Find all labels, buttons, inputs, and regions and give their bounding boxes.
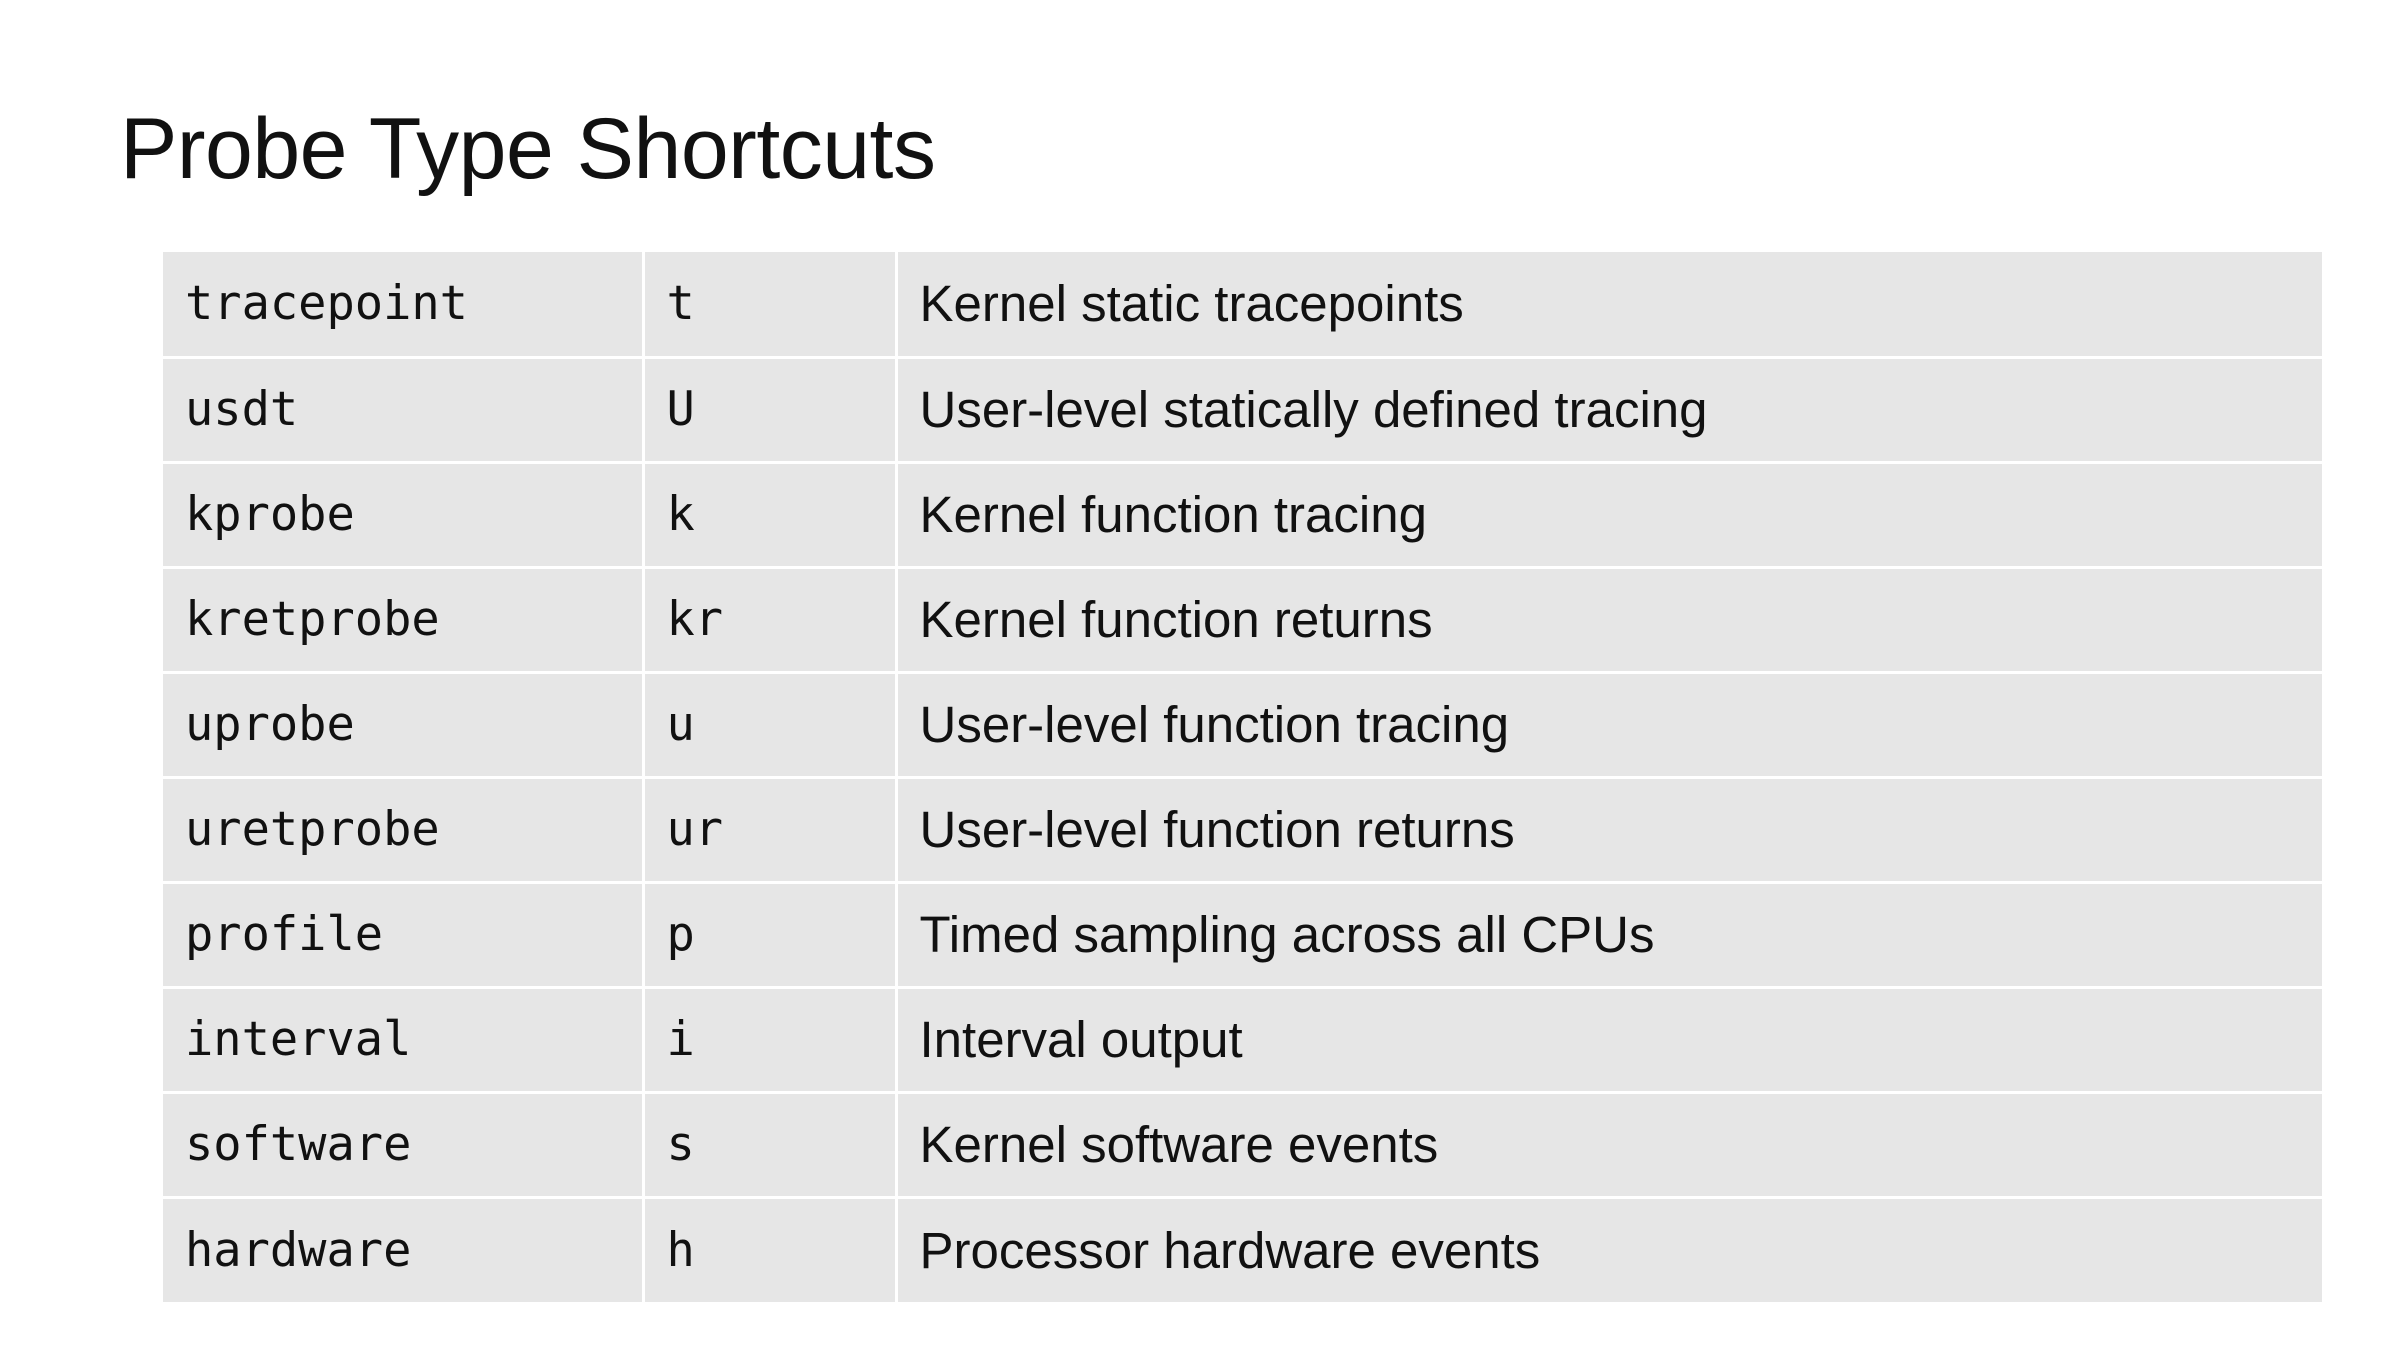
table-row: usdt U User-level statically defined tra… — [163, 357, 2322, 462]
cell-shortcut: ur — [643, 777, 896, 882]
cell-description: User-level function returns — [896, 777, 2322, 882]
table-row: uretprobe ur User-level function returns — [163, 777, 2322, 882]
cell-probe-type: usdt — [163, 357, 643, 462]
table-body: tracepoint t Kernel static tracepoints u… — [163, 252, 2322, 1302]
cell-probe-type: uretprobe — [163, 777, 643, 882]
cell-description: Timed sampling across all CPUs — [896, 882, 2322, 987]
table-row: uprobe u User-level function tracing — [163, 672, 2322, 777]
cell-shortcut: u — [643, 672, 896, 777]
table-row: hardware h Processor hardware events — [163, 1197, 2322, 1302]
table-row: software s Kernel software events — [163, 1092, 2322, 1197]
cell-description: Kernel software events — [896, 1092, 2322, 1197]
cell-shortcut: s — [643, 1092, 896, 1197]
slide: Probe Type Shortcuts tracepoint t Kernel… — [0, 0, 2400, 1350]
cell-probe-type: uprobe — [163, 672, 643, 777]
page-title: Probe Type Shortcuts — [120, 102, 935, 197]
cell-shortcut: h — [643, 1197, 896, 1302]
cell-description: User-level statically defined tracing — [896, 357, 2322, 462]
cell-description: Kernel function returns — [896, 567, 2322, 672]
cell-probe-type: software — [163, 1092, 643, 1197]
table-row: kretprobe kr Kernel function returns — [163, 567, 2322, 672]
probe-type-shortcuts-table: tracepoint t Kernel static tracepoints u… — [163, 252, 2322, 1302]
cell-description: Processor hardware events — [896, 1197, 2322, 1302]
cell-probe-type: kretprobe — [163, 567, 643, 672]
cell-description: Kernel function tracing — [896, 462, 2322, 567]
cell-description: Interval output — [896, 987, 2322, 1092]
table-row: profile p Timed sampling across all CPUs — [163, 882, 2322, 987]
cell-shortcut: i — [643, 987, 896, 1092]
table-row: kprobe k Kernel function tracing — [163, 462, 2322, 567]
cell-shortcut: k — [643, 462, 896, 567]
cell-shortcut: p — [643, 882, 896, 987]
cell-description: Kernel static tracepoints — [896, 252, 2322, 357]
cell-shortcut: t — [643, 252, 896, 357]
cell-probe-type: profile — [163, 882, 643, 987]
table-row: tracepoint t Kernel static tracepoints — [163, 252, 2322, 357]
cell-shortcut: kr — [643, 567, 896, 672]
cell-description: User-level function tracing — [896, 672, 2322, 777]
cell-probe-type: interval — [163, 987, 643, 1092]
cell-probe-type: kprobe — [163, 462, 643, 567]
cell-shortcut: U — [643, 357, 896, 462]
table-row: interval i Interval output — [163, 987, 2322, 1092]
cell-probe-type: hardware — [163, 1197, 643, 1302]
cell-probe-type: tracepoint — [163, 252, 643, 357]
